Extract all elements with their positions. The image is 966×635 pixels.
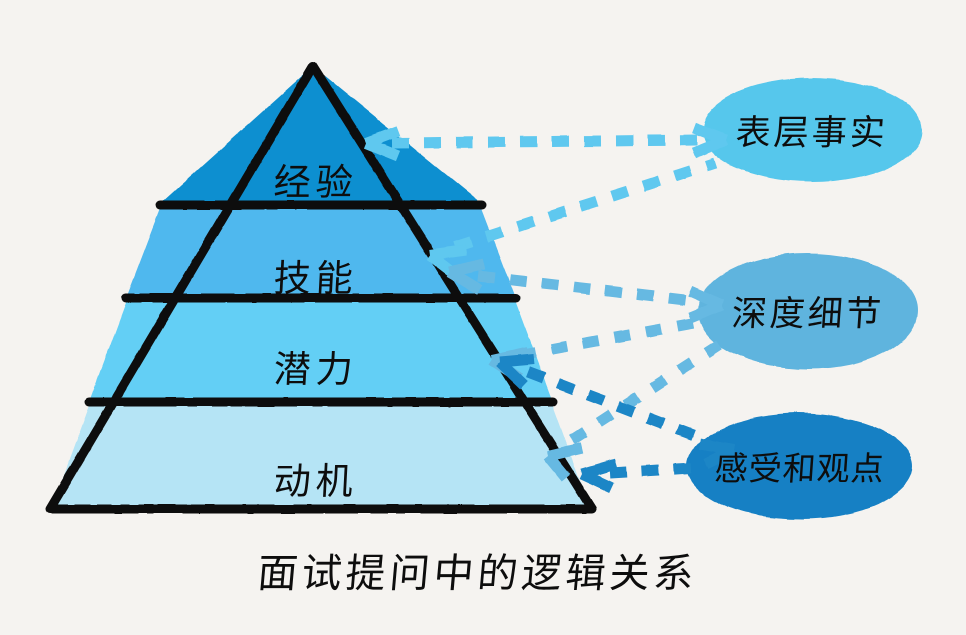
- pyramid-tiers: [52, 66, 590, 508]
- diagram-canvas: 经验 技能 潜力 动机 表层事实 深度细节 感受和观点 面试提问中的逻辑关系: [0, 0, 966, 635]
- bubble-surface-facts-shape[interactable]: [702, 78, 922, 182]
- arrow-feelings-to-motivation-line: [610, 468, 692, 473]
- bubble-feelings-opinions-shape[interactable]: [687, 413, 913, 519]
- arrow-surface-to-skill-line: [455, 163, 715, 247]
- bubble-deep-details-shape[interactable]: [698, 253, 918, 369]
- arrow-deep-to-potential-line: [520, 322, 700, 355]
- tier-potential-shape[interactable]: [90, 300, 552, 400]
- tier-motivation-shape[interactable]: [52, 404, 590, 508]
- arrow-surface-to-experience-line: [392, 140, 700, 143]
- pyramid-diagram-svg: [0, 0, 966, 635]
- arrow-deep-to-motivation-line: [572, 340, 726, 440]
